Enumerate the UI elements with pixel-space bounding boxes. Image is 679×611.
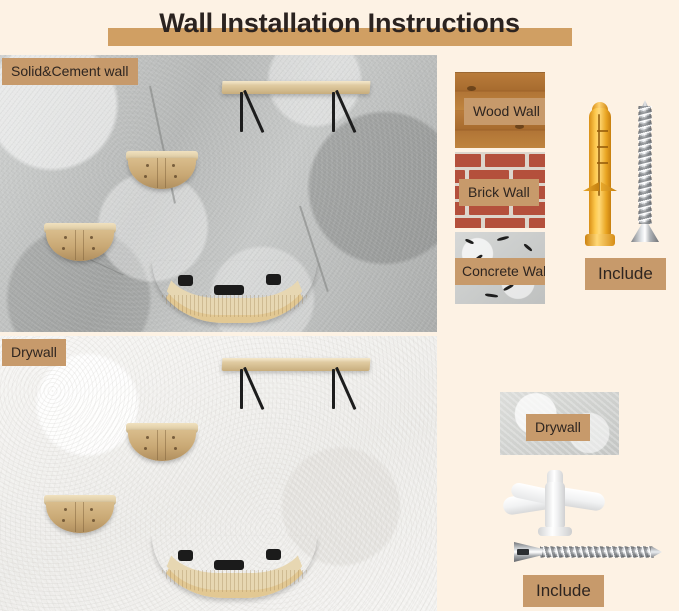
brick-unit bbox=[455, 154, 481, 167]
screw-head bbox=[631, 224, 659, 242]
wall-step-upper bbox=[126, 423, 198, 461]
bridge-grip-ridges bbox=[162, 570, 307, 592]
brick-wall-label: Brick Wall bbox=[459, 179, 539, 206]
brick-wall-swatch: Brick Wall bbox=[455, 152, 545, 228]
mount-hole bbox=[144, 175, 147, 178]
drywall-swatch: Drywall bbox=[500, 392, 619, 455]
label-drywall-photo: Drywall bbox=[2, 339, 66, 366]
mount-hole bbox=[92, 519, 95, 522]
wood-wall-swatch: Wood Wall bbox=[455, 72, 545, 148]
screw-head-slot bbox=[517, 549, 529, 555]
shelf-bracket-right-diagonal bbox=[335, 90, 356, 133]
installation-instructions-page: Wall Installation Instructions bbox=[0, 0, 679, 611]
bridge-mount-block-right bbox=[266, 274, 281, 285]
anchor-notch bbox=[597, 130, 608, 132]
step-body bbox=[46, 502, 114, 533]
shelf-bracket-left-diagonal bbox=[243, 90, 264, 133]
step-seam bbox=[83, 230, 84, 260]
step-seam bbox=[165, 158, 166, 188]
mount-hole bbox=[146, 436, 149, 439]
wood-wall-label: Wood Wall bbox=[464, 98, 545, 125]
brick-unit bbox=[485, 154, 525, 167]
step-seam bbox=[83, 502, 84, 532]
mount-hole bbox=[64, 508, 67, 511]
photo-solid-cement-wall bbox=[0, 55, 437, 332]
wood-knot bbox=[467, 86, 476, 91]
photo-drywall bbox=[0, 336, 437, 611]
screw-point bbox=[651, 546, 662, 558]
label-solid-cement-wall: Solid&Cement wall bbox=[2, 58, 138, 85]
bridge-mount-block-left bbox=[178, 275, 193, 286]
anchor-notch bbox=[597, 162, 608, 164]
anchor-body bbox=[589, 108, 611, 236]
label-include-top: Include bbox=[585, 258, 666, 290]
mount-hole bbox=[90, 508, 93, 511]
bridge-mount-block-center bbox=[214, 560, 244, 570]
anchor-notch bbox=[597, 146, 608, 148]
yellow-expansion-anchor bbox=[583, 100, 617, 246]
label-include-bottom: Include bbox=[523, 575, 604, 607]
wall-step-lower bbox=[44, 223, 116, 261]
page-title: Wall Installation Instructions bbox=[0, 6, 679, 40]
step-seam bbox=[165, 430, 166, 460]
white-toggle-drywall-anchor bbox=[505, 468, 605, 538]
step-body bbox=[128, 430, 196, 461]
bridge-mount-block-center bbox=[214, 285, 244, 295]
toggle-stem bbox=[545, 482, 565, 528]
mount-hole bbox=[174, 447, 177, 450]
mount-hole bbox=[62, 247, 65, 250]
step-seam bbox=[75, 502, 76, 532]
screw-threads bbox=[635, 106, 655, 224]
step-body bbox=[128, 158, 196, 189]
silver-wood-screw-horizontal bbox=[514, 541, 662, 563]
brick-unit bbox=[529, 218, 545, 228]
mount-hole bbox=[174, 175, 177, 178]
shelf-bracket-left-diagonal bbox=[243, 367, 264, 410]
mount-hole bbox=[92, 247, 95, 250]
brick-unit bbox=[455, 218, 481, 228]
step-seam bbox=[75, 230, 76, 260]
shelf-bracket-right-vertical bbox=[332, 369, 335, 409]
mount-hole bbox=[64, 236, 67, 239]
step-seam bbox=[157, 158, 158, 188]
concrete-wall-label: Concrete Wall bbox=[455, 258, 545, 285]
silver-wood-screw-vertical bbox=[628, 100, 662, 246]
bridge-grip-ridges bbox=[162, 295, 307, 317]
step-seam bbox=[157, 430, 158, 460]
wall-step-upper bbox=[126, 151, 198, 189]
wall-step-lower bbox=[44, 495, 116, 533]
concrete-wall-swatch: Concrete Wall bbox=[455, 232, 545, 304]
mount-hole bbox=[172, 436, 175, 439]
curved-cat-bridge bbox=[152, 261, 317, 323]
shelf-bracket-left-vertical bbox=[240, 369, 243, 409]
brick-unit bbox=[485, 218, 525, 228]
bridge-mount-block-left bbox=[178, 550, 193, 561]
wall-shelf bbox=[222, 81, 374, 143]
curved-cat-bridge bbox=[152, 536, 317, 598]
shelf-bracket-left-vertical bbox=[240, 92, 243, 132]
shelf-bracket-right-diagonal bbox=[335, 367, 356, 410]
mount-hole bbox=[172, 164, 175, 167]
screw-threads bbox=[540, 543, 654, 561]
mount-hole bbox=[146, 164, 149, 167]
shelf-bracket-right-vertical bbox=[332, 92, 335, 132]
drywall-swatch-label: Drywall bbox=[526, 414, 590, 441]
mount-hole bbox=[90, 236, 93, 239]
anchor-collar bbox=[585, 234, 615, 246]
page-header: Wall Installation Instructions bbox=[0, 2, 679, 50]
mount-hole bbox=[144, 447, 147, 450]
brick-unit bbox=[529, 154, 545, 167]
wall-shelf bbox=[222, 358, 374, 420]
step-body bbox=[46, 230, 114, 261]
toggle-base-flange bbox=[538, 527, 572, 536]
bridge-mount-block-right bbox=[266, 549, 281, 560]
mount-hole bbox=[62, 519, 65, 522]
